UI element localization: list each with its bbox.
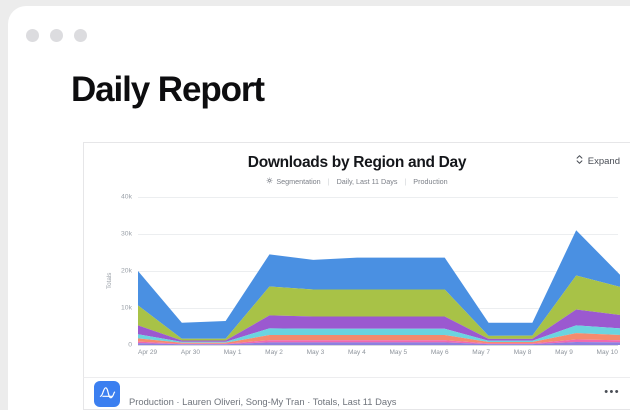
- close-dot[interactable]: [74, 29, 87, 42]
- x-axis-ticks: Apr 29Apr 30May 1May 2May 3May 4May 5May…: [138, 349, 618, 356]
- amplitude-logo-icon: [94, 381, 120, 407]
- x-tick-label: Apr 30: [181, 349, 200, 356]
- x-tick-label: May 10: [597, 349, 618, 356]
- x-tick-label: May 7: [472, 349, 490, 356]
- stacked-area-series: [138, 197, 620, 345]
- chart-title: Downloads by Region and Day: [84, 154, 630, 172]
- x-tick-label: May 6: [431, 349, 449, 356]
- chart-card-header: Downloads by Region and Day Segmentation…: [84, 143, 630, 186]
- x-tick-label: May 1: [224, 349, 242, 356]
- x-tick-label: May 4: [348, 349, 366, 356]
- x-tick-label: May 8: [514, 349, 532, 356]
- window-titlebar: [8, 6, 630, 64]
- gridline: [138, 345, 618, 346]
- segmentation-icon: [266, 177, 273, 186]
- x-tick-label: Apr 29: [138, 349, 157, 356]
- project-label[interactable]: Production: [413, 177, 447, 186]
- more-options-icon[interactable]: •••: [604, 378, 620, 398]
- x-tick-label: May 2: [265, 349, 283, 356]
- segmentation-chip[interactable]: Segmentation: [266, 177, 320, 186]
- minimize-dot[interactable]: [26, 29, 39, 42]
- chart-subtitle: Segmentation | Daily, Last 11 Days | Pro…: [84, 177, 630, 186]
- expand-label: Expand: [588, 156, 620, 167]
- date-range-label[interactable]: Daily, Last 11 Days: [337, 177, 398, 186]
- x-tick-label: May 3: [307, 349, 325, 356]
- browser-window: Daily Report Downloads by Region and Day…: [8, 6, 630, 410]
- chart-card-footer: Production · Lauren Oliveri, Song-My Tra…: [83, 377, 630, 410]
- chart-card: Downloads by Region and Day Segmentation…: [83, 142, 630, 377]
- y-tick-label: 40k: [108, 194, 132, 201]
- expand-button[interactable]: Expand: [575, 154, 620, 168]
- y-tick-label: 10k: [108, 305, 132, 312]
- subtitle-separator-2: |: [404, 177, 406, 186]
- y-tick-label: 0: [108, 342, 132, 349]
- x-tick-label: May 9: [555, 349, 573, 356]
- page-title: Daily Report: [71, 72, 630, 107]
- maximize-dot[interactable]: [50, 29, 63, 42]
- chevron-up-down-icon: [575, 154, 584, 168]
- y-axis-ticks: 010k20k30k40k: [106, 197, 132, 344]
- subtitle-separator-1: |: [328, 177, 330, 186]
- footer-description: Production · Lauren Oliveri, Song-My Tra…: [129, 396, 396, 409]
- segmentation-label: Segmentation: [276, 177, 320, 186]
- y-tick-label: 20k: [108, 268, 132, 275]
- chart-plot-area[interactable]: Totals 010k20k30k40k Apr 29Apr 30May 1Ma…: [84, 197, 630, 378]
- y-tick-label: 30k: [108, 231, 132, 238]
- x-tick-label: May 5: [389, 349, 407, 356]
